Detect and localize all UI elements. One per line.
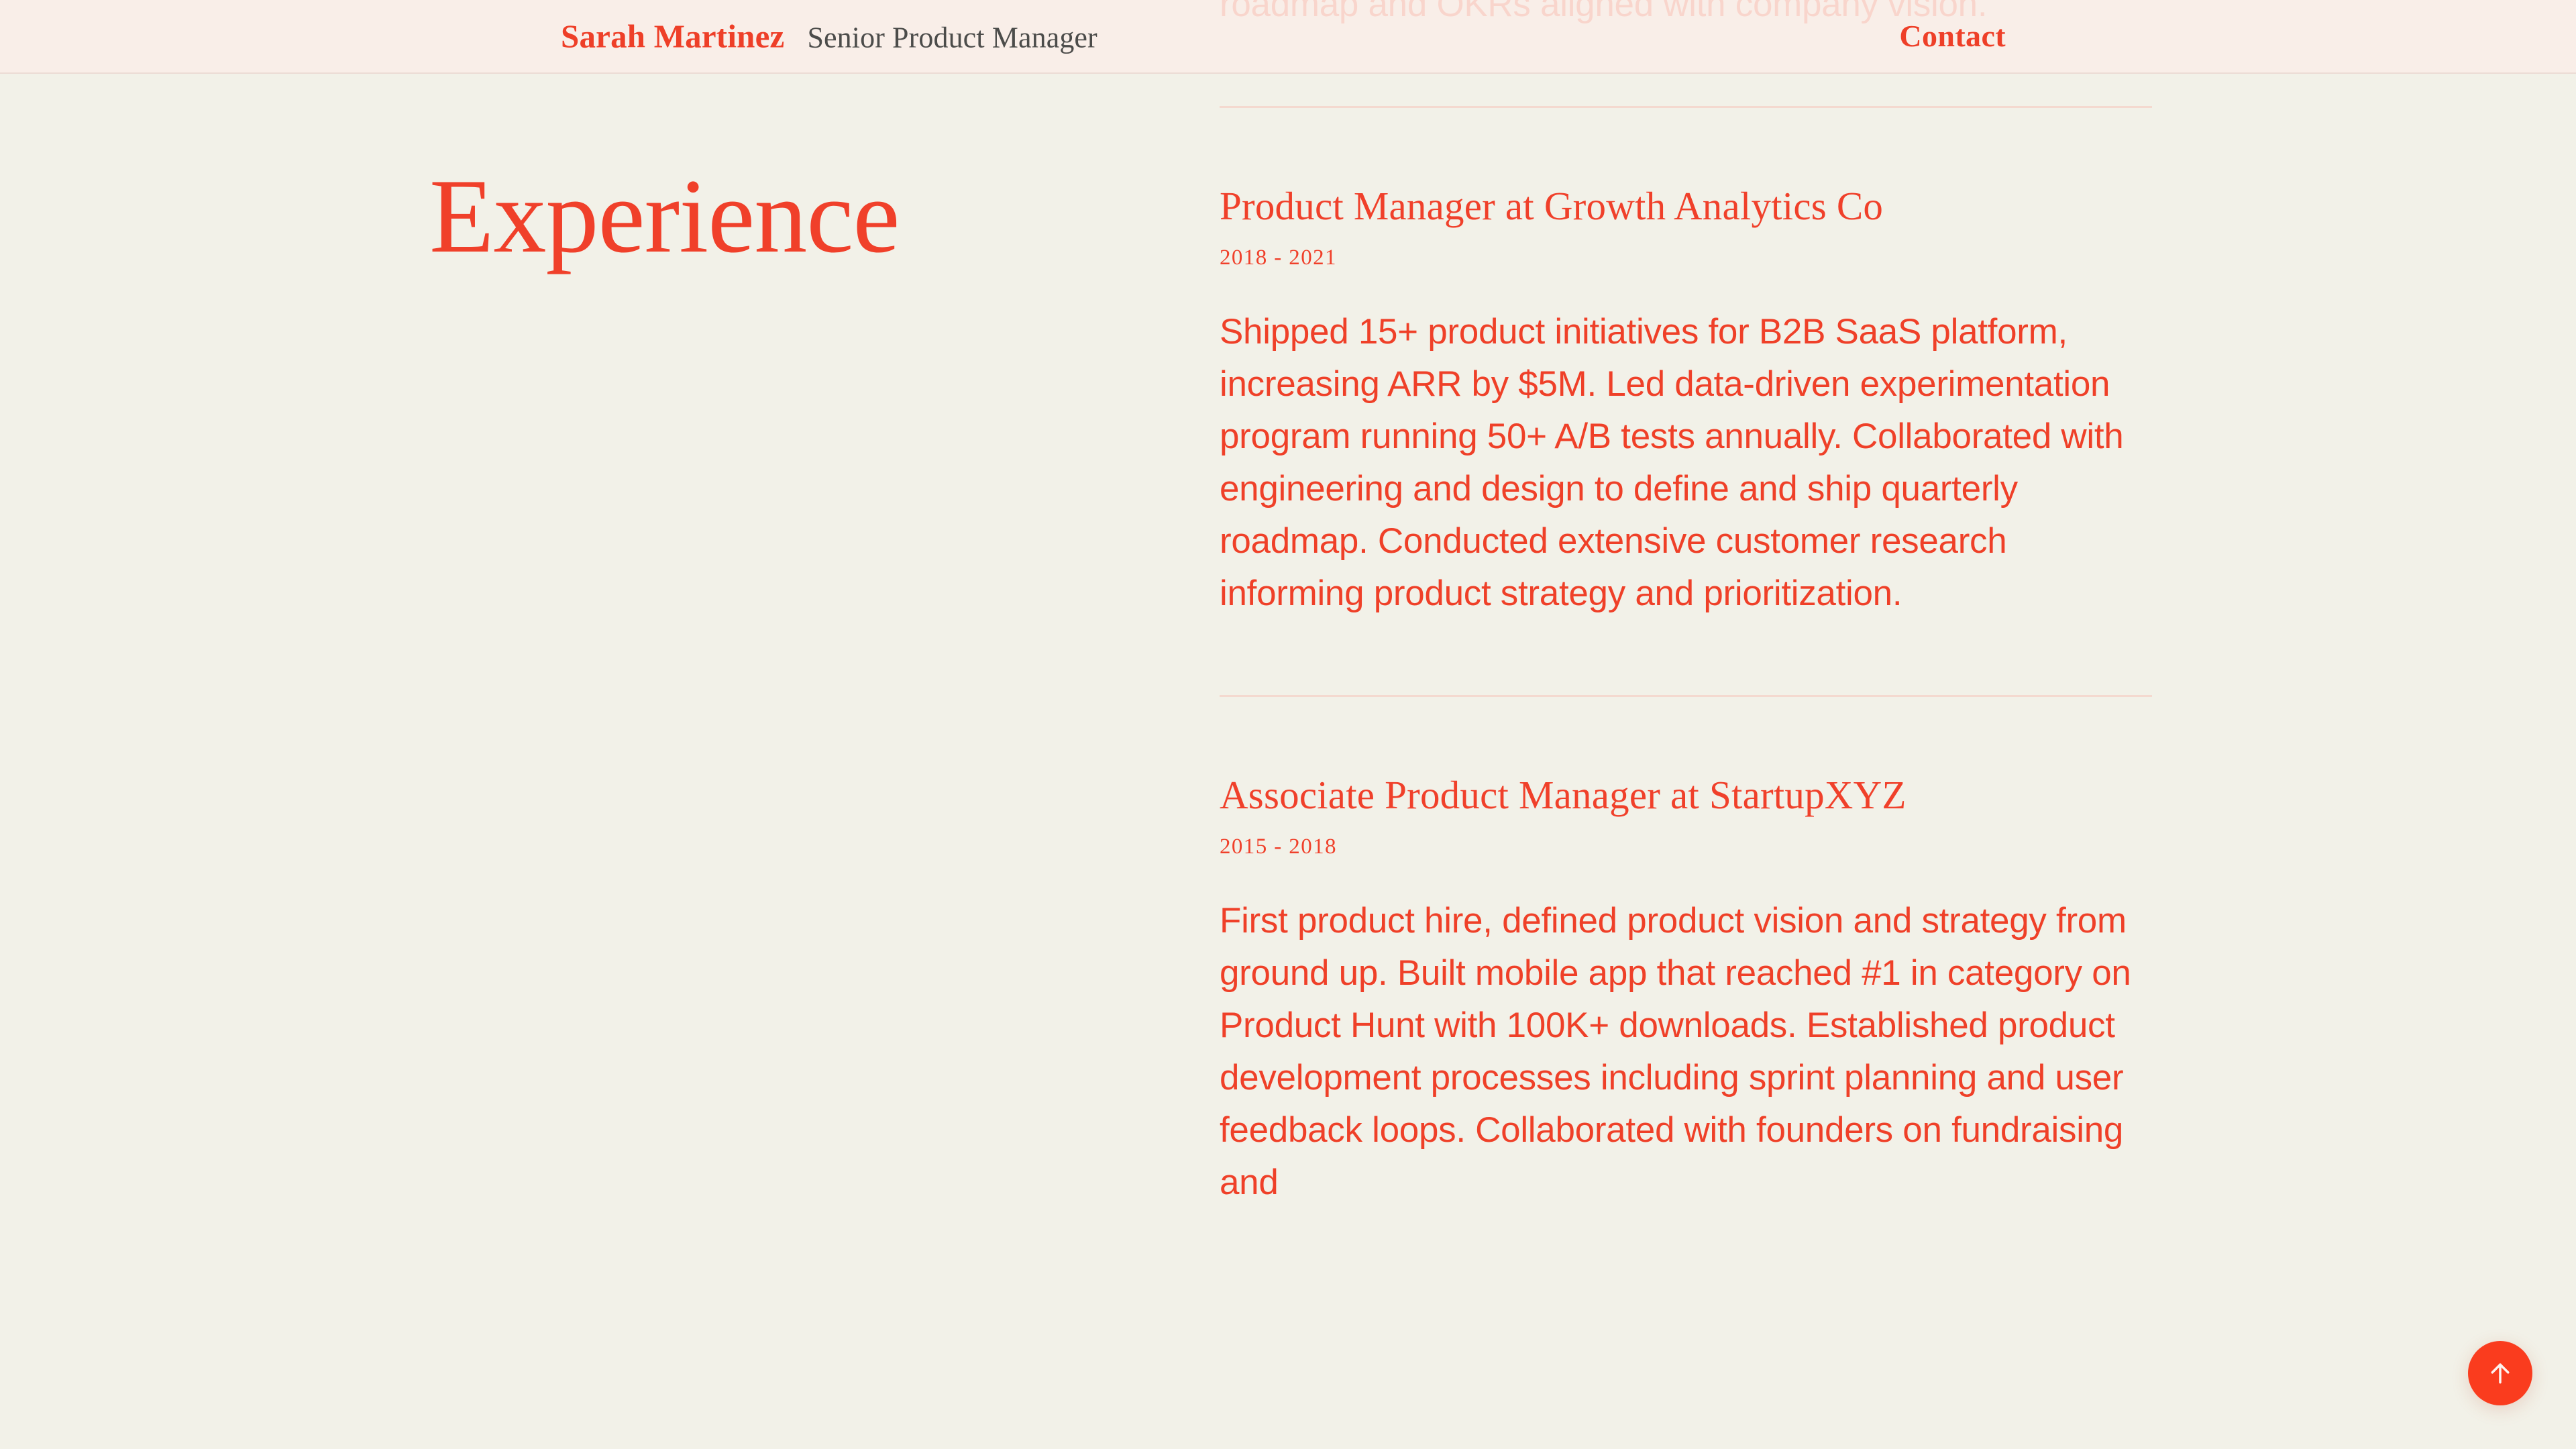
brand-role: Senior Product Manager (807, 23, 1097, 53)
experience-entry: Product Manager at Growth Analytics Co 2… (1220, 183, 2152, 620)
site-header: Sarah Martinez Senior Product Manager Co… (0, 0, 2576, 74)
entry-divider (1220, 695, 2152, 697)
experience-entries-column: engineers, designers, and analysts. Defi… (1220, 0, 2152, 1209)
experience-entry-dates: 2015 - 2018 (1220, 834, 2152, 861)
header-inner: Sarah Martinez Senior Product Manager Co… (0, 0, 2576, 72)
experience-entry-dates: 2018 - 2021 (1220, 245, 2152, 272)
experience-heading-column: Experience (429, 161, 1167, 272)
header-nav: Contact (1899, 21, 2576, 52)
brand[interactable]: Sarah Martinez Senior Product Manager (561, 20, 1097, 53)
brand-name[interactable]: Sarah Martinez (561, 20, 784, 53)
experience-entry: Associate Product Manager at StartupXYZ … (1220, 772, 2152, 1209)
experience-entry-description: Shipped 15+ product initiatives for B2B … (1220, 306, 2152, 620)
page-title: Experience (429, 161, 1167, 272)
experience-entry-title: Product Manager at Growth Analytics Co (1220, 183, 2152, 230)
entry-divider (1220, 106, 2152, 108)
nav-link-contact[interactable]: Contact (1899, 21, 2006, 52)
page-root: Experience engineers, designers, and ana… (0, 0, 2576, 1449)
experience-entry-title: Associate Product Manager at StartupXYZ (1220, 772, 2152, 819)
arrow-up-icon (2485, 1358, 2515, 1388)
scroll-to-top-button[interactable] (2468, 1341, 2532, 1405)
experience-entry-description: First product hire, defined product visi… (1220, 895, 2152, 1209)
